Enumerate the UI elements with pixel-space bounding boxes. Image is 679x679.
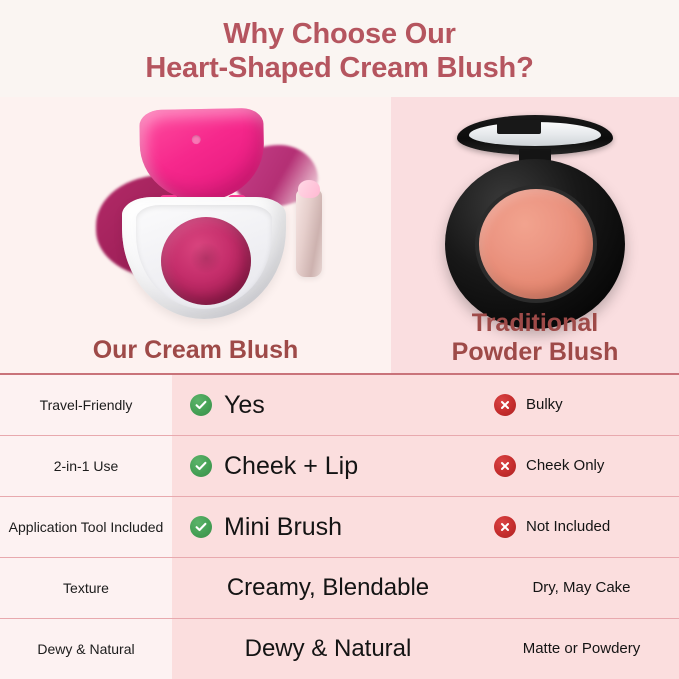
hero-caption-our-product: Our Cream Blush [93,336,299,373]
hero-caption-traditional-product: Traditional Powder Blush [452,309,619,373]
feature-label: 2-in-1 Use [0,436,172,496]
cross-circle-icon [494,394,516,416]
traditional-product-value: Cheek Only [526,457,604,475]
traditional-product-value: Dry, May Cake [532,579,630,597]
powder-blush-pan-icon [479,189,593,299]
feature-label: Travel-Friendly [0,375,172,435]
traditional-product-cell: Bulky [484,375,679,435]
our-product-value: Yes [224,391,265,419]
our-product-value: Mini Brush [224,513,342,541]
traditional-product-value: Bulky [526,396,563,414]
hero-caption-traditional-line-1: Traditional [452,309,619,338]
our-product-cell: Cheek + Lip [172,436,484,496]
hero-product-panels: Our Cream Blush Traditional Powder Blush [0,97,679,373]
feature-label: Dewy & Natural [0,619,172,679]
check-circle-icon [190,455,212,477]
traditional-product-cell: Not Included [484,497,679,557]
traditional-product-cell: Cheek Only [484,436,679,496]
our-product-value: Dewy & Natural [245,635,412,663]
page-title: Why Choose Our Heart-Shaped Cream Blush? [0,0,679,97]
table-row: 2-in-1 Use Cheek + Lip Cheek Only [0,436,679,497]
our-product-cell: Dewy & Natural [172,619,484,679]
cream-blush-pan-icon [161,217,251,305]
hero-panel-our-product: Our Cream Blush [0,97,391,373]
our-product-cell: Yes [172,375,484,435]
mini-brush-applicator-icon [296,189,322,277]
check-circle-icon [190,516,212,538]
traditional-product-value: Matte or Powdery [523,640,641,658]
comparison-table: Travel-Friendly Yes Bulky 2-in-1 Use [0,373,679,679]
feature-label: Texture [0,558,172,618]
round-powder-compact-icon [391,97,679,327]
comparison-infographic: Why Choose Our Heart-Shaped Cream Blush?… [0,0,679,679]
table-row: Travel-Friendly Yes Bulky [0,375,679,436]
title-line-1: Why Choose Our [223,17,455,51]
traditional-product-cell: Matte or Powdery [484,619,679,679]
heart-cream-blush-compact-icon [0,97,391,325]
hero-caption-traditional-line-2: Powder Blush [452,338,619,367]
check-circle-icon [190,394,212,416]
our-product-cell: Mini Brush [172,497,484,557]
table-row: Texture Creamy, Blendable Dry, May Cake [0,558,679,619]
title-line-2: Heart-Shaped Cream Blush? [145,51,533,85]
table-row: Application Tool Included Mini Brush Not… [0,497,679,558]
powder-mirror-icon [469,122,601,146]
cross-circle-icon [494,455,516,477]
our-product-value: Cheek + Lip [224,452,358,480]
our-product-value: Creamy, Blendable [227,574,429,602]
feature-label: Application Tool Included [0,497,172,557]
traditional-product-value: Not Included [526,518,610,536]
table-row: Dewy & Natural Dewy & Natural Matte or P… [0,619,679,679]
cross-circle-icon [494,516,516,538]
our-product-cell: Creamy, Blendable [172,558,484,618]
hero-panel-traditional-product: Traditional Powder Blush [391,97,679,373]
traditional-product-cell: Dry, May Cake [484,558,679,618]
